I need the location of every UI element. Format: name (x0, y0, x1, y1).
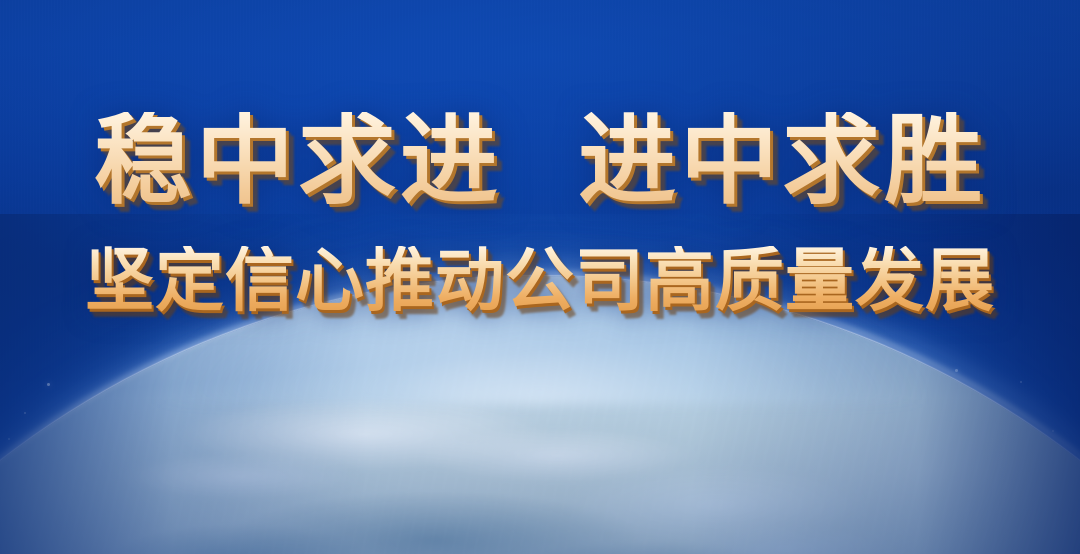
subtitle: 坚定信心推动公司高质量发展 (0, 246, 1080, 316)
poster-canvas: 稳中求进 进中求胜 坚定信心推动公司高质量发展 (0, 0, 1080, 554)
headline-block: 稳中求进 进中求胜 坚定信心推动公司高质量发展 (0, 112, 1080, 316)
main-title: 稳中求进 进中求胜 (0, 112, 1080, 212)
